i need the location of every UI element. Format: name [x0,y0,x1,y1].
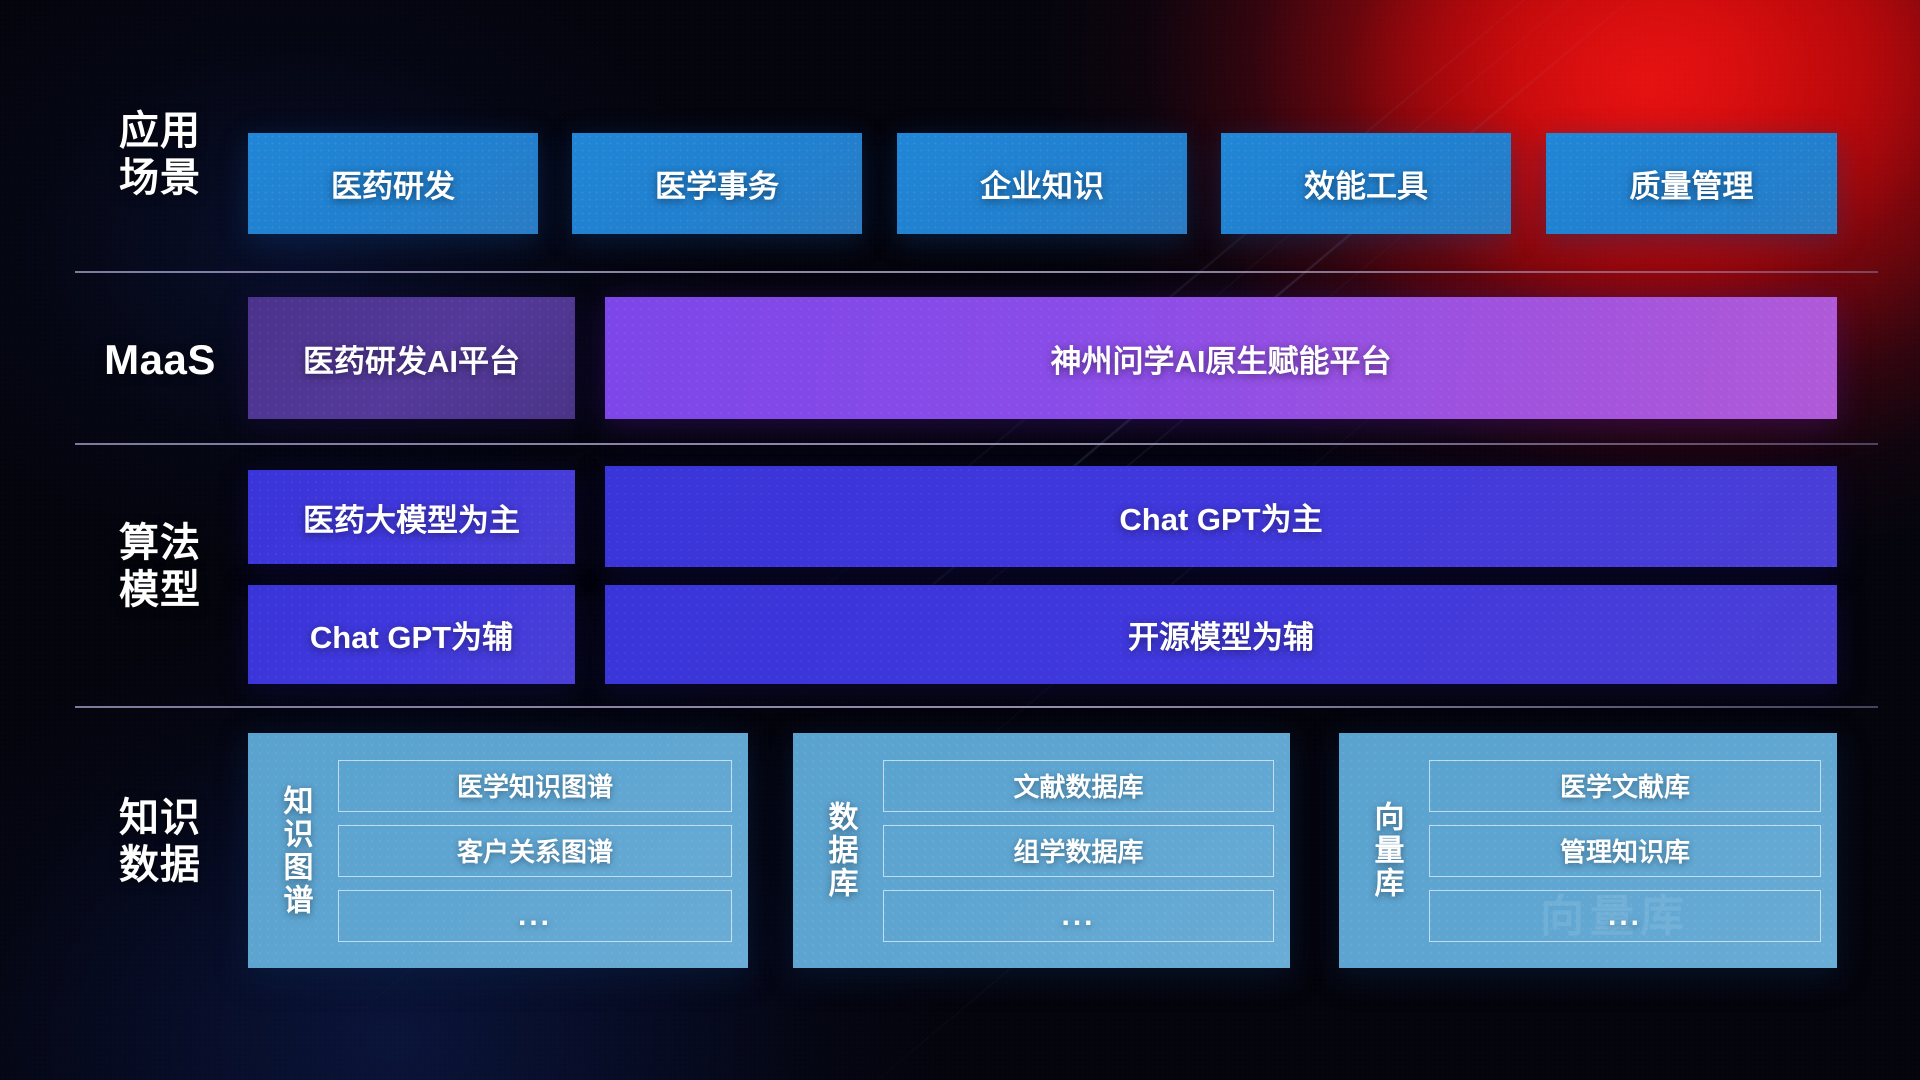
row-label-maas: MaaS [75,335,245,385]
scenario-box-0[interactable]: 医药研发 [248,133,538,234]
row-label-knowledge-line2: 数据 [75,842,245,889]
knowledge-item-1-0[interactable]: 文献数据库 [883,760,1274,812]
maas-platform-box-left[interactable]: 医药研发AI平台 [248,297,575,419]
knowledge-card-title-0: 知识图谱 [266,785,324,917]
scenario-box-4[interactable]: 质量管理 [1546,133,1837,234]
row-label-algorithm-line2: 模型 [75,567,245,614]
knowledge-item-0-0[interactable]: 医学知识图谱 [338,760,732,812]
knowledge-item-0-1[interactable]: 客户关系图谱 [338,825,732,877]
scenario-box-2[interactable]: 企业知识 [897,133,1187,234]
knowledge-item-2-1[interactable]: 管理知识库 [1429,825,1821,877]
algorithm-left-label-0: 医药大模型为主 [303,495,520,540]
maas-platform-box-right[interactable]: 神州问学AI原生赋能平台 [605,297,1837,419]
row-label-scenarios-line2: 场景 [75,155,245,202]
algorithm-box-right-1[interactable]: 开源模型为辅 [605,585,1837,684]
scenario-label-1: 医学事务 [655,161,779,206]
scenario-box-3[interactable]: 效能工具 [1221,133,1511,234]
row-label-knowledge-line1: 知识 [75,795,245,842]
maas-left-label: 医药研发AI平台 [303,336,520,381]
algorithm-left-label-1: Chat GPT为辅 [310,612,513,657]
row-label-scenarios: 应用 场景 [75,108,245,202]
algorithm-box-left-1[interactable]: Chat GPT为辅 [248,585,575,684]
knowledge-card-0[interactable]: 知识图谱 医学知识图谱 客户关系图谱 ... [248,733,748,968]
row-divider-2 [75,443,1878,445]
row-label-maas-text: MaaS [75,335,245,385]
architecture-diagram: 应用 场景 医药研发 医学事务 企业知识 效能工具 质量管理 MaaS 医药研发… [0,0,1920,1080]
knowledge-card-items-1: 文献数据库 组学数据库 ... [883,747,1274,954]
knowledge-card-items-0: 医学知识图谱 客户关系图谱 ... [338,747,732,954]
scenario-label-2: 企业知识 [980,161,1104,206]
scenario-label-3: 效能工具 [1304,161,1428,206]
scenario-label-4: 质量管理 [1630,161,1754,206]
knowledge-item-0-2[interactable]: ... [338,890,732,942]
knowledge-card-1[interactable]: 数据库 文献数据库 组学数据库 ... [793,733,1290,968]
scenario-box-1[interactable]: 医学事务 [572,133,862,234]
row-divider-1 [75,271,1878,273]
knowledge-card-title-1: 数据库 [811,801,869,900]
knowledge-item-1-1[interactable]: 组学数据库 [883,825,1274,877]
knowledge-card-title-2: 向量库 [1357,801,1415,900]
row-label-algorithm: 算法 模型 [75,520,245,614]
row-label-scenarios-line1: 应用 [75,108,245,155]
knowledge-card-items-2: 医学文献库 管理知识库 ... [1429,747,1821,954]
scenario-label-0: 医药研发 [331,161,455,206]
algorithm-right-label-1: 开源模型为辅 [1128,612,1314,657]
knowledge-item-2-0[interactable]: 医学文献库 [1429,760,1821,812]
algorithm-box-left-0[interactable]: 医药大模型为主 [248,470,575,564]
maas-right-label: 神州问学AI原生赋能平台 [1051,336,1392,381]
knowledge-card-2[interactable]: 向量库 医学文献库 管理知识库 ... [1339,733,1837,968]
algorithm-box-right-0[interactable]: Chat GPT为主 [605,466,1837,567]
knowledge-item-2-2[interactable]: ... [1429,890,1821,942]
row-label-knowledge: 知识 数据 [75,795,245,889]
knowledge-item-1-2[interactable]: ... [883,890,1274,942]
algorithm-right-label-0: Chat GPT为主 [1119,494,1322,539]
row-label-algorithm-line1: 算法 [75,520,245,567]
row-divider-3 [75,706,1878,708]
